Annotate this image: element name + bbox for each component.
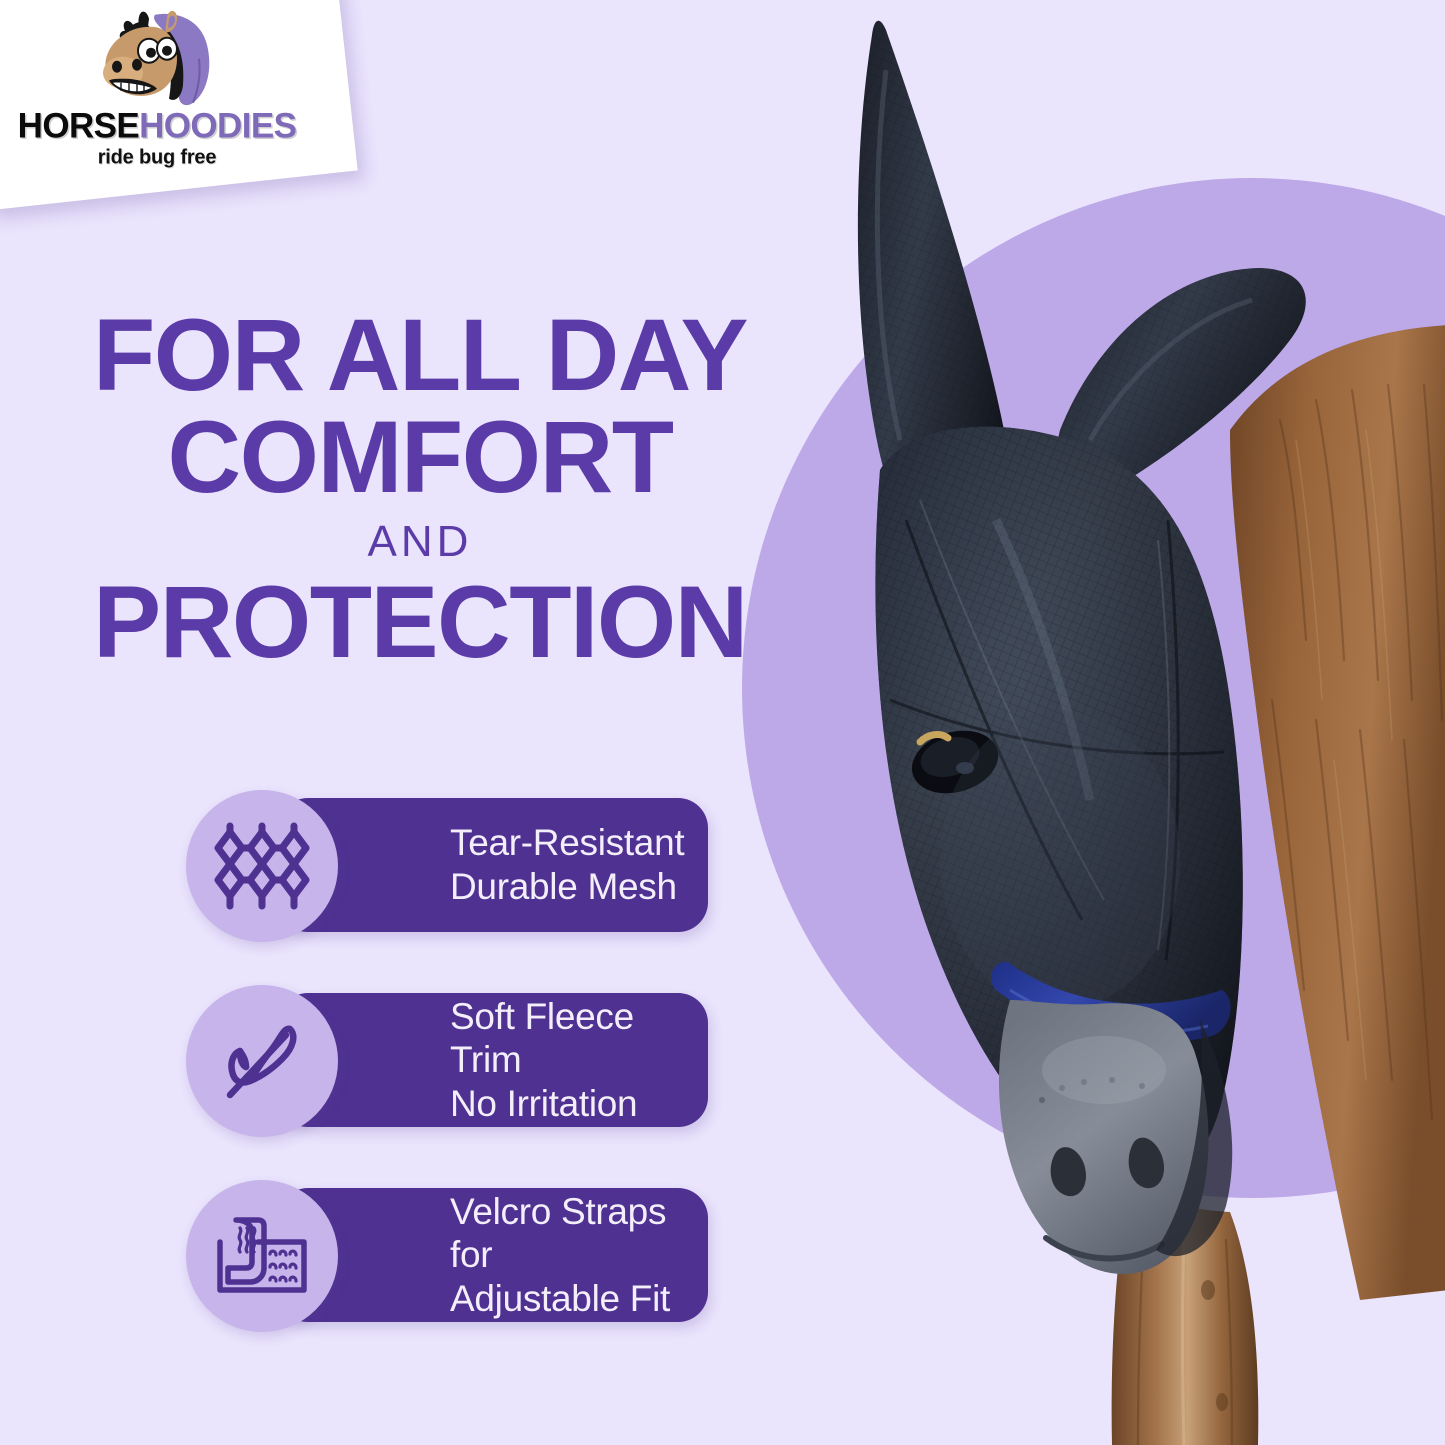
headline-connector: AND xyxy=(0,512,840,571)
brand-wordmark-hoodies: HOODIES xyxy=(139,107,296,146)
brand-logo-card[interactable]: HORSEHOODIES ride bug free xyxy=(0,0,358,210)
headline-line-3: PROTECTION xyxy=(0,573,840,673)
brand-wordmark: HORSEHOODIES xyxy=(12,109,302,144)
headline-line-2: COMFORT xyxy=(0,408,840,508)
feature-badge-mesh xyxy=(186,790,338,942)
feature-label-mesh: Tear-Resistant Durable Mesh xyxy=(450,821,684,908)
horse-head-hoodie-icon xyxy=(93,7,221,115)
feature-pill-fleece[interactable]: Soft Fleece Trim No Irritation xyxy=(278,993,708,1127)
brand-logo-inner: HORSEHOODIES ride bug free xyxy=(12,7,302,170)
feature-pill-mesh[interactable]: Tear-Resistant Durable Mesh xyxy=(278,798,708,932)
velcro-strap-icon xyxy=(214,1212,310,1300)
feather-icon xyxy=(216,1015,308,1107)
feature-badge-velcro xyxy=(186,1180,338,1332)
headline-line-1: FOR ALL DAY xyxy=(0,306,840,406)
headline-block: FOR ALL DAY COMFORT AND PROTECTION xyxy=(0,306,840,673)
advertisement-canvas: HORSEHOODIES ride bug free FOR ALL DAY C… xyxy=(0,0,1445,1445)
feature-badge-fleece xyxy=(186,985,338,1137)
brand-wordmark-horse: HORSE xyxy=(18,107,139,146)
product-photo-donkey-fly-mask xyxy=(760,0,1445,1445)
feature-pill-velcro[interactable]: Velcro Straps for Adjustable Fit xyxy=(278,1188,708,1322)
feature-label-velcro: Velcro Straps for Adjustable Fit xyxy=(450,1190,692,1321)
mesh-lattice-icon xyxy=(214,820,310,912)
brand-tagline: ride bug free xyxy=(12,147,302,170)
feature-label-fleece: Soft Fleece Trim No Irritation xyxy=(450,995,692,1126)
